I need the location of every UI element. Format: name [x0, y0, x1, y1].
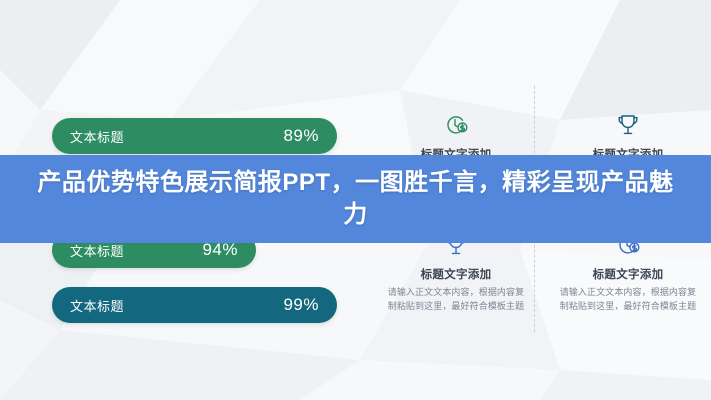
- feature-body: 请输入正文文本内容，根据内容复制粘贴到这里，最好符合模板主题: [380, 286, 532, 314]
- feature-title: 标题文字添加: [380, 266, 532, 282]
- bar-label: 文本标题: [70, 241, 124, 260]
- bar-value: 99%: [283, 295, 319, 315]
- title-banner: 产品优势特色展示简报PPT，一图胜千言，精彩呈现产品魅力: [0, 155, 711, 243]
- feature-title: 标题文字添加: [552, 266, 704, 282]
- bar-label: 文本标题: [70, 127, 124, 146]
- bar-value: 89%: [283, 126, 319, 146]
- slide-canvas: 文本标题 89% 文本标题 94% 文本标题 94% 文本标题 99%: [0, 0, 711, 400]
- bar-label: 文本标题: [70, 296, 124, 315]
- clock-dollar-icon: [380, 108, 532, 142]
- trophy-icon: [552, 108, 704, 142]
- bar-row[interactable]: 文本标题 99%: [52, 287, 337, 323]
- banner-title: 产品优势特色展示简报PPT，一图胜千言，精彩呈现产品魅力: [0, 167, 711, 230]
- feature-body: 请输入正文文本内容，根据内容复制粘贴到这里，最好符合模板主题: [552, 286, 704, 314]
- bar-value: 94%: [202, 240, 238, 260]
- bar-row[interactable]: 文本标题 89%: [52, 118, 337, 154]
